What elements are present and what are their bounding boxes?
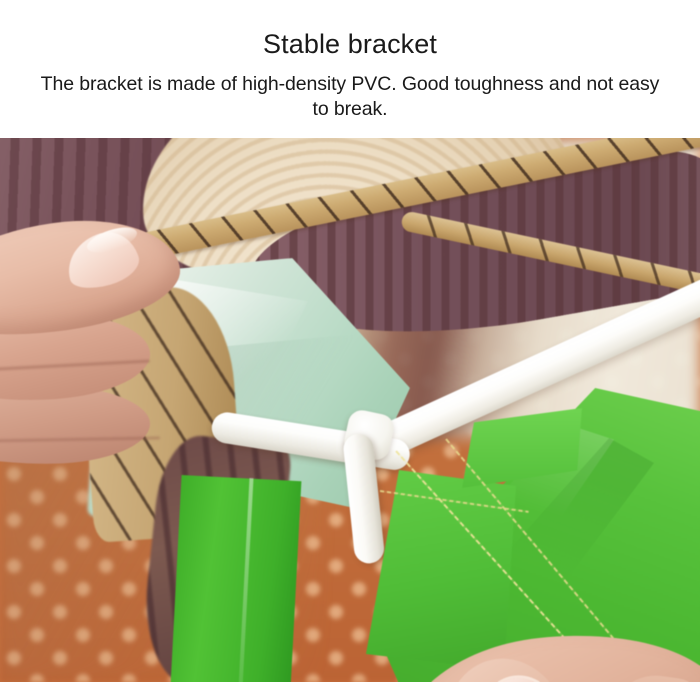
- page-subtitle: The bracket is made of high-density PVC.…: [30, 72, 670, 122]
- product-photo: [0, 138, 700, 682]
- product-detail-page: Stable bracket The bracket is made of hi…: [0, 0, 700, 700]
- page-title: Stable bracket: [0, 28, 700, 60]
- footer-whitespace: [0, 682, 700, 700]
- header: Stable bracket The bracket is made of hi…: [0, 0, 700, 138]
- green-fabric-strip: [171, 475, 302, 682]
